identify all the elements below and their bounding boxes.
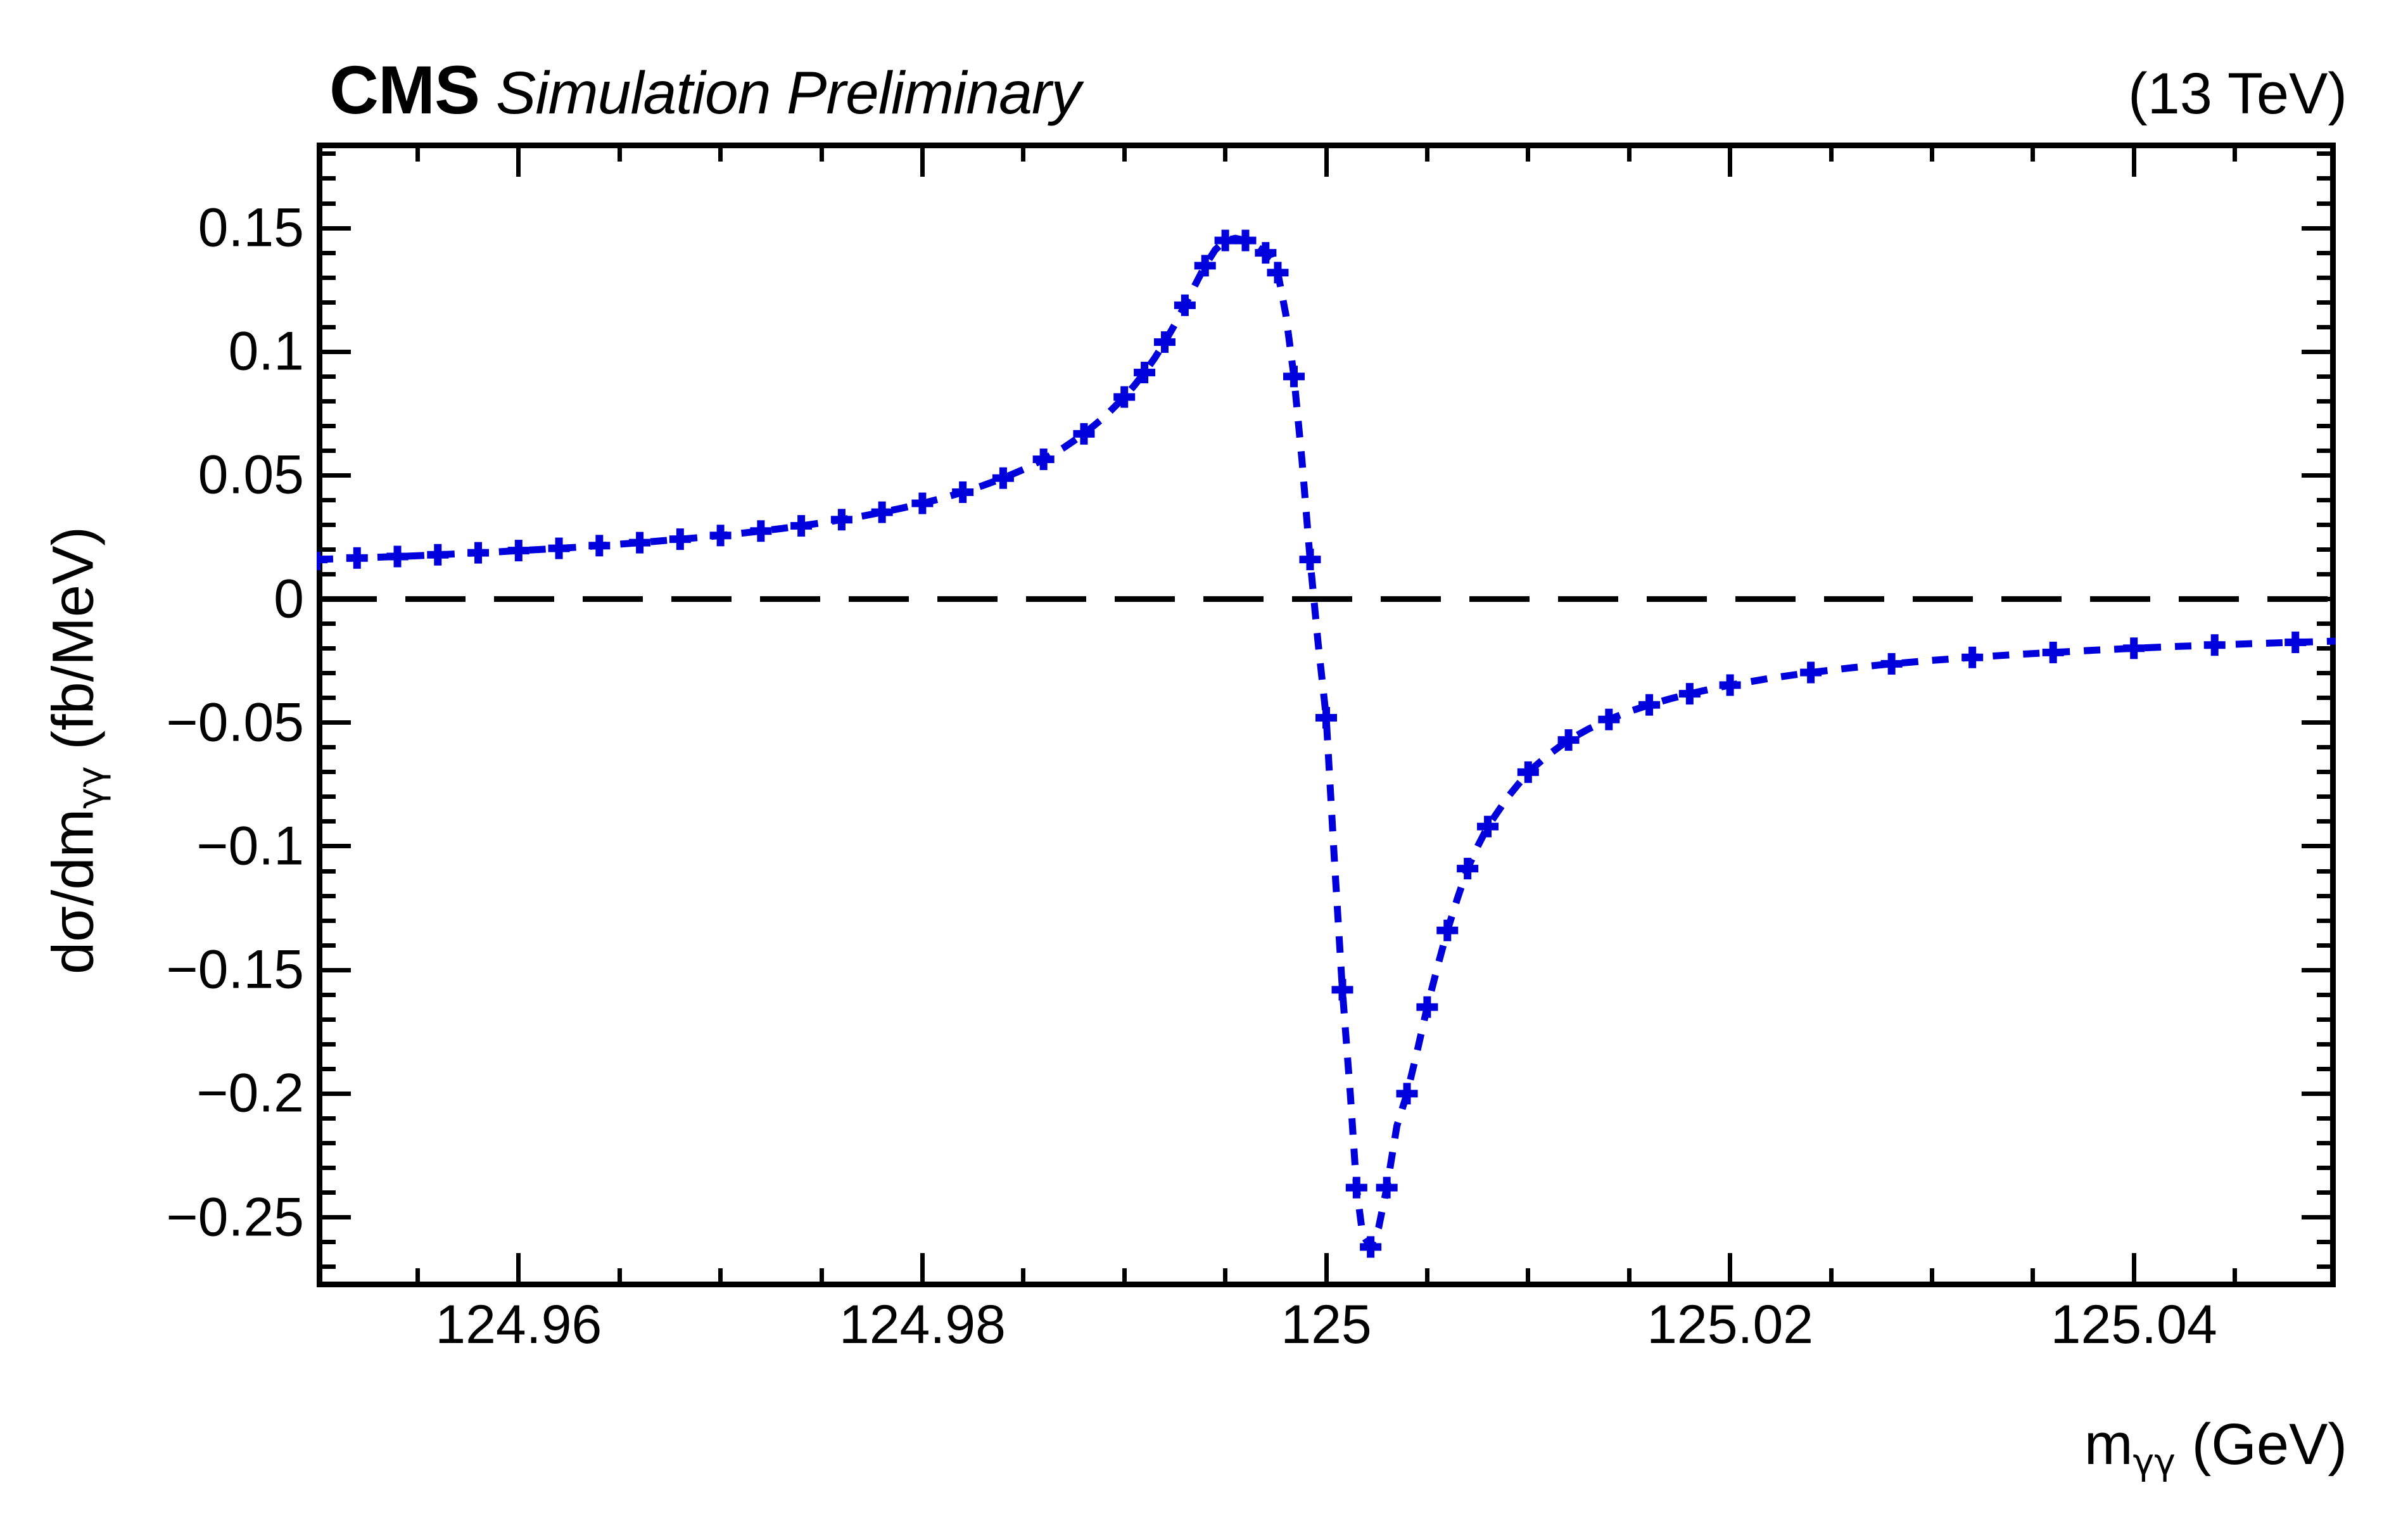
y-axis-tick-label: −0.15	[38, 939, 304, 1002]
y-axis-major-tick-right	[2302, 350, 2336, 354]
y-axis-minor-tick	[317, 1190, 336, 1195]
x-axis-minor-tick-top	[718, 143, 723, 162]
y-axis-minor-tick	[317, 646, 336, 651]
y-axis-minor-tick	[317, 498, 336, 502]
y-axis-minor-tick-right	[2317, 1017, 2336, 1022]
y-axis-minor-tick	[317, 794, 336, 799]
x-axis-minor-tick-top	[2334, 143, 2336, 162]
y-axis-minor-tick	[317, 572, 336, 576]
y-axis-minor-tick-right	[2317, 399, 2336, 404]
y-axis-minor-tick-right	[2317, 1264, 2336, 1269]
y-axis-minor-tick-right	[2317, 1190, 2336, 1195]
x-axis-major-tick	[1324, 1253, 1329, 1287]
y-axis-minor-tick-right	[2317, 894, 2336, 898]
x-axis-minor-tick	[2233, 1268, 2237, 1287]
y-axis-minor-tick	[317, 251, 336, 255]
y-axis-minor-tick	[317, 671, 336, 675]
y-axis-minor-tick-right	[2317, 300, 2336, 305]
x-axis-minor-tick-top	[618, 143, 622, 162]
y-axis-major-tick-right	[2302, 226, 2336, 231]
y-axis-minor-tick	[317, 300, 336, 305]
y-axis-minor-tick-right	[2317, 819, 2336, 824]
x-axis-minor-tick-top	[2233, 143, 2237, 162]
y-axis-minor-tick	[317, 151, 336, 156]
y-axis-major-tick	[317, 226, 351, 231]
y-axis-minor-tick-right	[2317, 745, 2336, 749]
y-axis-major-tick-right	[2302, 844, 2336, 848]
y-axis-minor-tick-right	[2317, 424, 2336, 428]
x-axis-minor-tick-top	[1223, 143, 1227, 162]
x-axis-minor-tick-top	[2031, 143, 2035, 162]
y-axis-major-tick	[317, 720, 351, 725]
x-axis-major-tick	[2132, 1253, 2136, 1287]
x-axis-minor-tick	[415, 1268, 420, 1287]
y-axis-major-tick	[317, 350, 351, 354]
x-axis-major-tick-top	[516, 143, 521, 177]
x-axis-major-tick-top	[2132, 143, 2136, 177]
y-axis-minor-tick-right	[2317, 325, 2336, 329]
y-axis-minor-tick-right	[2317, 696, 2336, 700]
x-axis-minor-tick	[1122, 1268, 1127, 1287]
x-axis-minor-tick	[618, 1268, 622, 1287]
y-axis-tick-label: −0.1	[38, 815, 304, 877]
y-axis-minor-tick	[317, 1141, 336, 1145]
y-axis-minor-tick-right	[2317, 1116, 2336, 1121]
y-axis-minor-tick	[317, 819, 336, 824]
x-axis-minor-tick-top	[1627, 143, 1632, 162]
y-axis-minor-tick	[317, 547, 336, 552]
y-axis-minor-tick-right	[2317, 770, 2336, 774]
y-axis-minor-tick	[317, 201, 336, 206]
x-axis-minor-tick	[2031, 1268, 2035, 1287]
x-axis-minor-tick-top	[1829, 143, 1834, 162]
x-axis-minor-tick	[718, 1268, 723, 1287]
y-axis-minor-tick-right	[2317, 993, 2336, 997]
y-axis-tick-label: −0.25	[38, 1186, 304, 1249]
y-axis-major-tick-right	[2302, 1092, 2336, 1096]
y-axis-major-tick	[317, 473, 351, 478]
x-axis-minor-tick-top	[820, 143, 824, 162]
tick-layer	[317, 143, 2336, 1287]
chart-root: CMSSimulation Preliminary (13 TeV) dσ/dm…	[0, 0, 2408, 1528]
x-axis-major-tick-top	[1728, 143, 1732, 177]
x-axis-minor-tick	[2334, 1268, 2336, 1287]
y-axis-major-tick-right	[2302, 968, 2336, 972]
x-axis-minor-tick	[1627, 1268, 1632, 1287]
x-axis-minor-tick	[1526, 1268, 1530, 1287]
x-axis-minor-tick-top	[317, 143, 319, 162]
y-axis-minor-tick-right	[2317, 1141, 2336, 1145]
y-axis-minor-tick	[317, 943, 336, 948]
y-axis-minor-tick-right	[2317, 547, 2336, 552]
y-axis-minor-tick-right	[2317, 201, 2336, 206]
y-axis-minor-tick	[317, 325, 336, 329]
y-axis-minor-tick	[317, 894, 336, 898]
y-axis-minor-tick-right	[2317, 943, 2336, 948]
y-axis-major-tick	[317, 968, 351, 972]
plot-area	[317, 143, 2336, 1287]
y-axis-minor-tick	[317, 399, 336, 404]
y-axis-minor-tick	[317, 745, 336, 749]
y-axis-minor-tick-right	[2317, 449, 2336, 453]
y-axis-minor-tick	[317, 919, 336, 923]
y-axis-minor-tick-right	[2317, 1166, 2336, 1170]
x-axis-minor-tick-top	[1122, 143, 1127, 162]
y-axis-minor-tick	[317, 1017, 336, 1022]
x-axis-minor-tick-top	[1425, 143, 1429, 162]
y-axis-minor-tick-right	[2317, 276, 2336, 280]
y-axis-minor-tick	[317, 1240, 336, 1244]
y-axis-minor-tick	[317, 374, 336, 379]
x-axis-minor-tick	[1223, 1268, 1227, 1287]
y-axis-major-tick	[317, 1215, 351, 1219]
y-axis-minor-tick	[317, 1264, 336, 1269]
y-axis-minor-tick	[317, 1042, 336, 1047]
x-axis-minor-tick	[1425, 1268, 1429, 1287]
y-axis-minor-tick	[317, 621, 336, 626]
y-axis-minor-tick	[317, 449, 336, 453]
x-axis-minor-tick	[1930, 1268, 1934, 1287]
y-axis-minor-tick-right	[2317, 646, 2336, 651]
y-axis-minor-tick-right	[2317, 919, 2336, 923]
y-axis-tick-label: −0.2	[38, 1062, 304, 1125]
y-axis-major-tick	[317, 844, 351, 848]
y-axis-minor-tick	[317, 424, 336, 428]
x-axis-major-tick-top	[920, 143, 925, 177]
y-axis-minor-tick-right	[2317, 498, 2336, 502]
y-axis-minor-tick-right	[2317, 869, 2336, 874]
y-axis-minor-tick	[317, 1116, 336, 1121]
y-axis-major-tick-right	[2302, 473, 2336, 478]
y-axis-tick-label: 0.1	[38, 321, 304, 383]
y-axis-minor-tick-right	[2317, 671, 2336, 675]
x-axis-tick-label: 125.04	[2051, 1294, 2217, 1356]
y-axis-minor-tick	[317, 1166, 336, 1170]
x-axis-minor-tick	[317, 1268, 319, 1287]
y-axis-minor-tick	[317, 1067, 336, 1071]
y-axis-minor-tick	[317, 523, 336, 527]
y-axis-minor-tick	[317, 869, 336, 874]
y-axis-minor-tick-right	[2317, 1067, 2336, 1071]
x-axis-tick-label: 124.98	[839, 1294, 1006, 1356]
x-axis-minor-tick-top	[1930, 143, 1934, 162]
y-axis-minor-tick-right	[2317, 374, 2336, 379]
x-axis-minor-tick-top	[1526, 143, 1530, 162]
y-axis-minor-tick-right	[2317, 1240, 2336, 1244]
y-axis-minor-tick-right	[2317, 1042, 2336, 1047]
y-axis-minor-tick-right	[2317, 251, 2336, 255]
y-axis-minor-tick	[317, 176, 336, 181]
y-axis-tick-label: 0	[38, 568, 304, 630]
y-axis-minor-tick	[317, 770, 336, 774]
y-axis-tick-label: 0.05	[38, 444, 304, 507]
y-axis-major-tick-right	[2302, 1215, 2336, 1219]
y-axis-minor-tick-right	[2317, 176, 2336, 181]
y-axis-major-tick	[317, 597, 351, 601]
x-axis-tick-label: 125	[1281, 1294, 1372, 1356]
y-axis-minor-tick-right	[2317, 572, 2336, 576]
y-axis-minor-tick-right	[2317, 523, 2336, 527]
y-axis-minor-tick-right	[2317, 151, 2336, 156]
x-axis-minor-tick	[1021, 1268, 1025, 1287]
x-axis-tick-label: 125.02	[1647, 1294, 1813, 1356]
y-axis-tick-label: −0.05	[38, 691, 304, 754]
x-axis-major-tick	[920, 1253, 925, 1287]
x-axis-minor-tick-top	[1021, 143, 1025, 162]
y-axis-major-tick	[317, 1092, 351, 1096]
y-axis-major-tick-right	[2302, 720, 2336, 725]
x-axis-major-tick	[1728, 1253, 1732, 1287]
y-axis-minor-tick	[317, 696, 336, 700]
y-axis-minor-tick-right	[2317, 794, 2336, 799]
x-axis-minor-tick-top	[415, 143, 420, 162]
x-axis-major-tick	[516, 1253, 521, 1287]
y-axis-minor-tick	[317, 276, 336, 280]
y-axis-tick-label: 0.15	[38, 197, 304, 260]
x-axis-major-tick-top	[1324, 143, 1329, 177]
x-axis-minor-tick	[1829, 1268, 1834, 1287]
y-axis-major-tick-right	[2302, 597, 2336, 601]
y-axis-minor-tick	[317, 993, 336, 997]
x-axis-tick-label: 124.96	[435, 1294, 602, 1356]
x-axis-minor-tick	[820, 1268, 824, 1287]
y-axis-minor-tick-right	[2317, 621, 2336, 626]
